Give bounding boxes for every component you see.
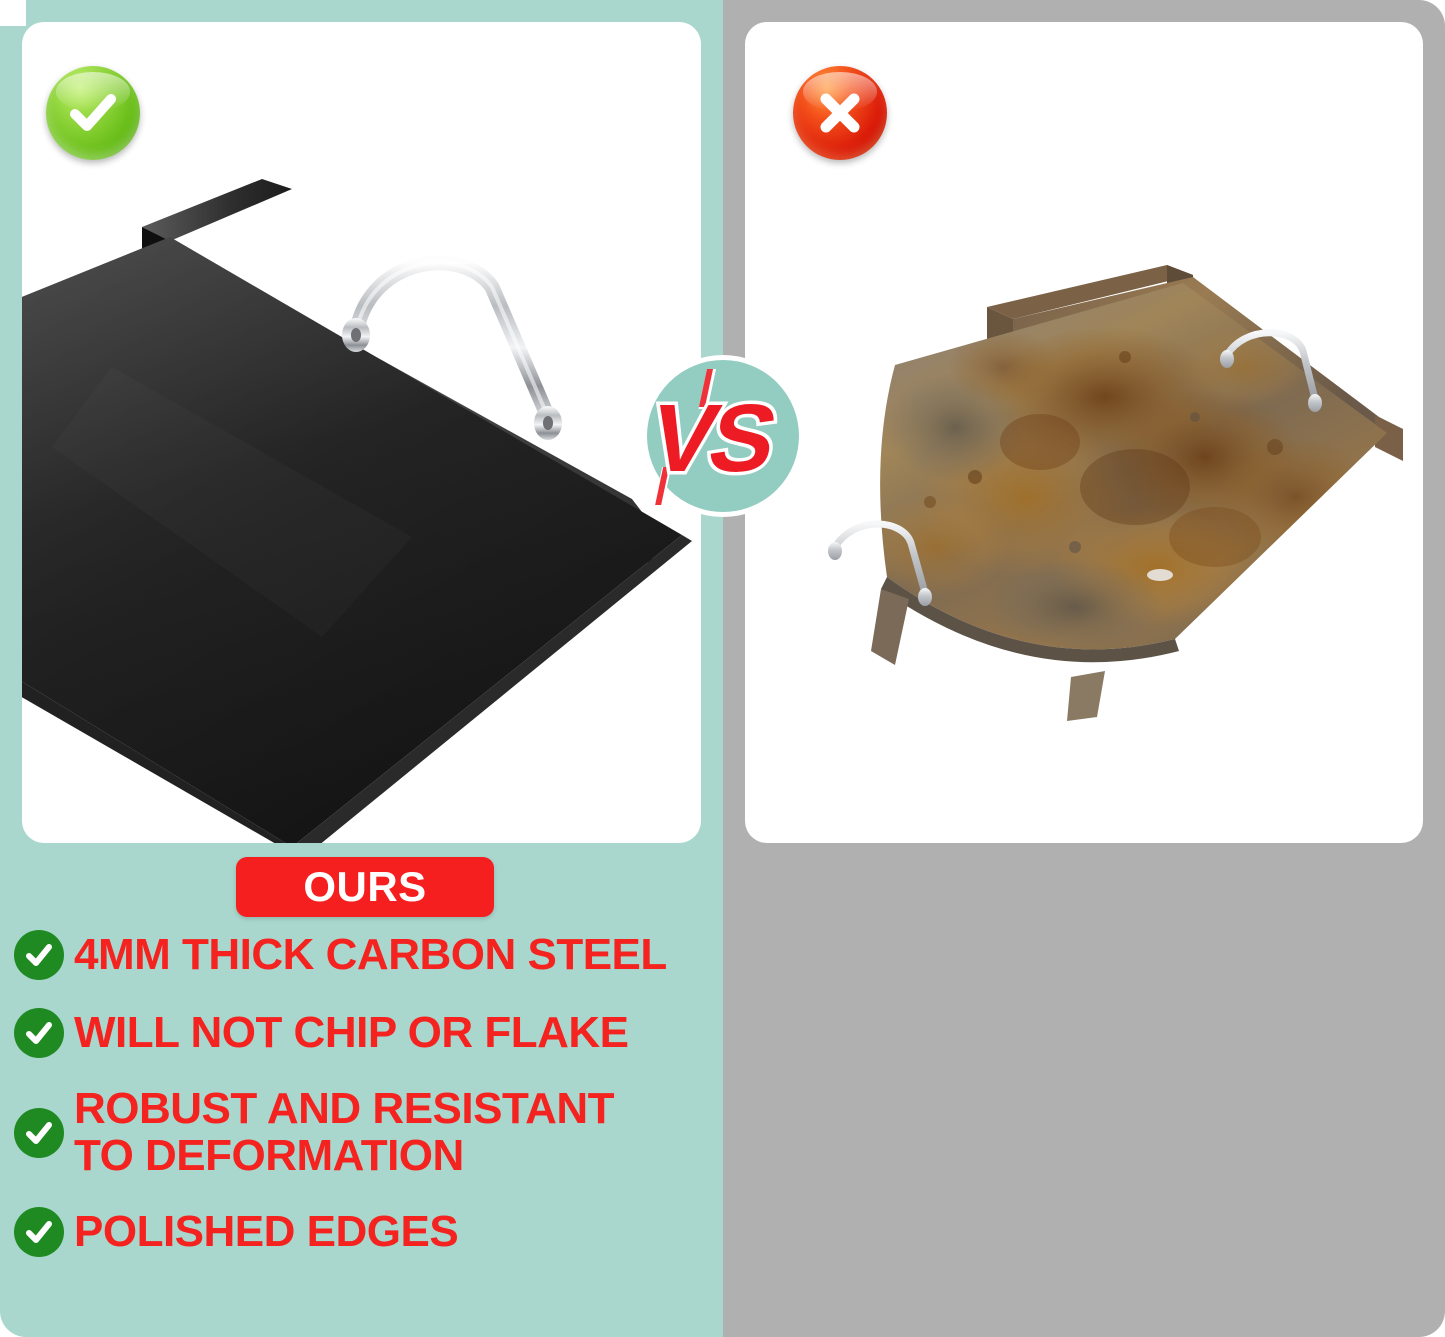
others-product-card bbox=[745, 22, 1423, 843]
ours-heading-badge: OURS bbox=[236, 857, 494, 917]
list-item: 4MM THICK CARBON STEEL bbox=[14, 930, 714, 980]
red-cross-circle-icon bbox=[793, 66, 887, 160]
comparison-infographic: OURS 4MM THICK CARBON STEEL WILL NOT CHI… bbox=[0, 0, 1445, 1337]
green-check-circle-icon bbox=[46, 66, 140, 160]
check-circle-icon bbox=[14, 1108, 64, 1158]
ours-panel: OURS 4MM THICK CARBON STEEL WILL NOT CHI… bbox=[0, 0, 723, 1337]
list-item-label: ROBUST AND RESISTANT TO DEFORMATION bbox=[74, 1086, 614, 1179]
cross-glyph bbox=[793, 66, 887, 160]
svg-text:VS: VS bbox=[642, 384, 783, 492]
others-product-image bbox=[775, 247, 1415, 747]
others-panel: OTHERS Thinner and lighter materials Chi… bbox=[723, 0, 1445, 1337]
list-item-label: WILL NOT CHIP OR FLAKE bbox=[74, 1010, 628, 1057]
ours-product-card bbox=[22, 22, 701, 843]
vs-badge: VS bbox=[642, 355, 804, 517]
list-item: WILL NOT CHIP OR FLAKE bbox=[14, 1008, 714, 1058]
check-circle-icon bbox=[14, 1008, 64, 1058]
list-item: POLISHED EDGES bbox=[14, 1207, 714, 1257]
vs-label-wrap: VS bbox=[642, 355, 804, 517]
ours-product-image bbox=[22, 117, 701, 843]
check-circle-icon bbox=[14, 1207, 64, 1257]
list-item: ROBUST AND RESISTANT TO DEFORMATION bbox=[14, 1086, 714, 1179]
list-item-label: 4MM THICK CARBON STEEL bbox=[74, 932, 667, 979]
ours-feature-list: 4MM THICK CARBON STEEL WILL NOT CHIP OR … bbox=[14, 930, 714, 1285]
check-circle-icon bbox=[14, 930, 64, 980]
list-item-label: POLISHED EDGES bbox=[74, 1209, 458, 1256]
check-glyph bbox=[46, 66, 140, 160]
